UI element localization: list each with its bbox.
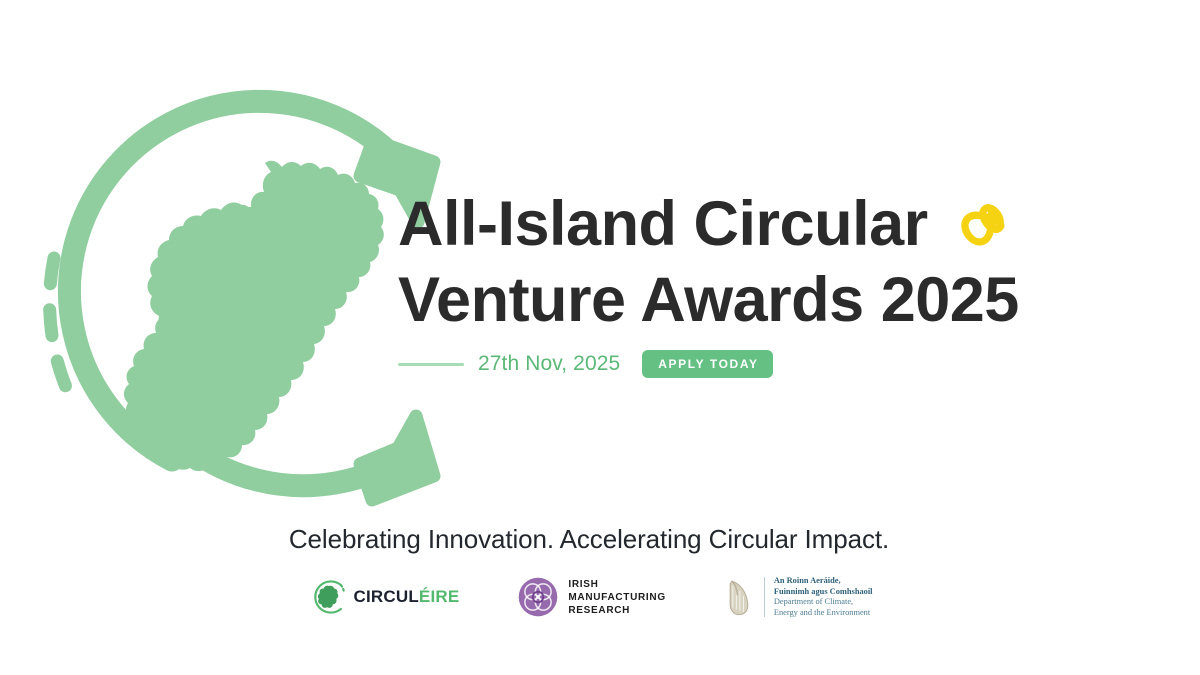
circuleire-wordmark: CIRCULÉIRE — [353, 587, 459, 607]
date-rule-divider — [398, 363, 464, 366]
imr-wordmark-line-2: MANUFACTURING — [568, 591, 665, 604]
partner-logo-irish-manufacturing-research: IRISH MANUFACTURING RESEARCH — [517, 570, 665, 624]
headline-line-1-text: All-Island Circular — [398, 186, 928, 262]
circuleire-ireland-circle-icon — [307, 575, 351, 619]
partner-logo-circuleire: CIRCULÉIRE — [307, 570, 459, 624]
gov-logo-divider — [764, 577, 765, 617]
event-date: 27th Nov, 2025 — [478, 352, 620, 376]
imr-wordmark-line-1: IRISH — [568, 578, 665, 591]
gov-wordmark: An Roinn Aeráide, Fuinnimh agus Comhshao… — [774, 576, 873, 618]
imr-interlocking-rings-icon — [517, 576, 559, 618]
date-and-cta-row: 27th Nov, 2025 APPLY TODAY — [398, 348, 773, 380]
circuleire-wordmark-part2: ÉIRE — [419, 587, 459, 606]
headline-line-2: Venture Awards 2025 — [398, 262, 1188, 338]
partner-logo-dept-climate-energy-environment: An Roinn Aeráide, Fuinnimh agus Comhshao… — [724, 570, 873, 624]
irish-harp-icon — [724, 575, 754, 619]
infinity-loop-icon — [944, 189, 1024, 259]
gov-wordmark-ga-line-1: An Roinn Aeráide, — [774, 576, 873, 587]
imr-wordmark-line-3: RESEARCH — [568, 604, 665, 617]
gov-wordmark-ga-line-2: Fuinnimh agus Comhshaoil — [774, 587, 873, 598]
partner-logo-strip: CIRCULÉIRE IRISH MANUFACTURING RESEARCH — [0, 570, 1200, 624]
headline-line-1: All-Island Circular — [398, 186, 1188, 262]
tagline: Celebrating Innovation. Accelerating Cir… — [0, 524, 1200, 555]
ireland-map-icon — [124, 161, 384, 471]
awards-poster: All-Island Circular Venture Awards 2025 … — [0, 0, 1200, 675]
apply-today-button[interactable]: APPLY TODAY — [642, 350, 772, 378]
headline-block: All-Island Circular Venture Awards 2025 — [398, 186, 1188, 338]
gov-wordmark-en-line-2: Energy and the Environment — [774, 608, 873, 619]
imr-wordmark: IRISH MANUFACTURING RESEARCH — [568, 578, 665, 617]
gov-wordmark-en-line-1: Department of Climate, — [774, 597, 873, 608]
circuleire-wordmark-part1: CIRCUL — [353, 587, 418, 606]
headline-line-2-text: Venture Awards 2025 — [398, 262, 1019, 338]
